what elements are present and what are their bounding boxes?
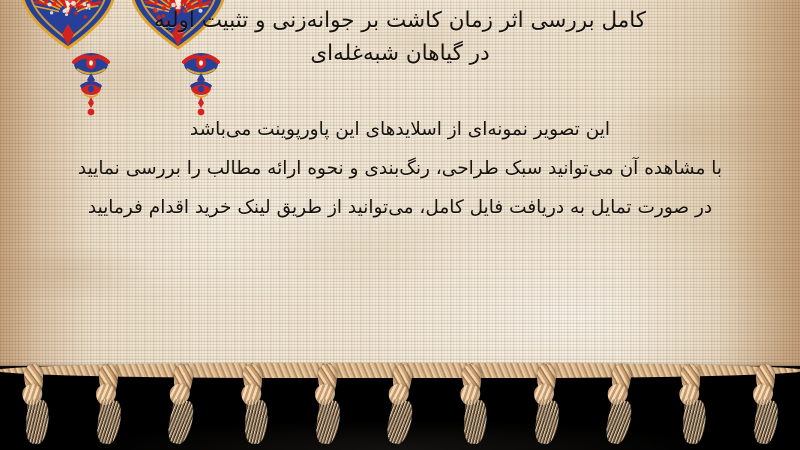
slide-body-line-1: این تصویر نمونه‌ای از اسلایدهای این پاور… <box>0 110 800 149</box>
fringe-tassel <box>17 359 53 449</box>
fringe-tassel <box>382 359 418 449</box>
tassel-floss <box>463 399 488 444</box>
fringe-tassel <box>93 360 123 448</box>
tassel-floss <box>603 398 634 446</box>
tassel-floss <box>752 399 780 446</box>
slide-body-line-3: در صورت تمایل به دریافت فایل کامل، می‌تو… <box>0 188 800 227</box>
fringe-tassel <box>455 359 491 449</box>
slide-title-line-1: کامل بررسی اثر زمان کاشت بر جوانه‌زنی و … <box>0 4 800 37</box>
slide-body-line-2: با مشاهده آن می‌توانید سبک طراحی، رنگ‌بن… <box>0 149 800 188</box>
fringe-tassel <box>674 359 710 449</box>
tassel-floss <box>384 398 415 446</box>
slide-body: این تصویر نمونه‌ای از اسلایدهای این پاور… <box>0 110 800 227</box>
slide-title: کامل بررسی اثر زمان کاشت بر جوانه‌زنی و … <box>0 4 800 70</box>
tassel-floss <box>165 398 196 446</box>
fringe-tassel <box>312 360 342 448</box>
slide-title-line-2: در گیاهان شبه‌غله‌ای <box>0 37 800 70</box>
slide-canvas: کامل بررسی اثر زمان کاشت بر جوانه‌زنی و … <box>0 0 800 450</box>
tassel-floss <box>95 399 123 446</box>
fringe-tassel <box>163 359 199 449</box>
tassel-floss <box>314 399 342 446</box>
fringe-tassel <box>236 359 272 449</box>
slide-text-layer: کامل بررسی اثر زمان کاشت بر جوانه‌زنی و … <box>0 0 800 378</box>
fringe-tassel <box>531 360 561 448</box>
tassel-floss <box>682 399 707 444</box>
fringe-tassel <box>601 359 637 449</box>
fringe-layer <box>0 360 800 450</box>
fringe-tassel <box>750 360 780 448</box>
tassel-floss <box>25 399 50 444</box>
tassel-floss <box>244 399 269 444</box>
tassel-floss <box>533 399 561 446</box>
